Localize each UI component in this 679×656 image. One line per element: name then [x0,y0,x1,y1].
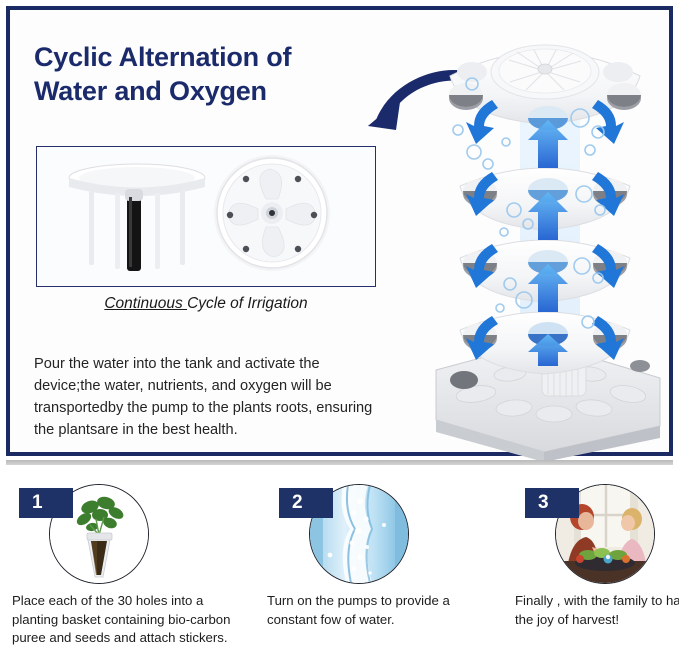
step-item-3: 3 [508,480,679,656]
step-number-badge-1: 1 [19,488,73,518]
photo-caption-underlined: Continuous [104,295,187,312]
step-item-1: 1 [4,480,244,656]
step-caption-2: Turn on the pumps to provide a constant … [267,592,495,629]
photo-caption: Continuous Cycle of Irrigation [36,295,376,313]
page-title-line-1: Cyclic Alternation of [34,42,291,72]
step-caption-3: Finally , with the family to harvest the… [515,592,679,629]
photo-caption-rest: Cycle of Irrigation [187,295,308,312]
page-title-line-2: Water and Oxygen [34,74,379,108]
main-panel: Cyclic Alternation of Water and Oxygen [6,6,673,456]
step-item-2: 2 [258,480,498,656]
page-title: Cyclic Alternation of Water and Oxygen [34,40,379,108]
irrigation-photo-box [36,146,376,287]
tower-illustration [414,22,676,462]
infographic-page: Cyclic Alternation of Water and Oxygen [0,0,679,656]
panel-shadow-divider [6,460,673,465]
body-paragraph: Pour the water into the tank and activat… [34,353,386,442]
step-number-badge-2: 2 [279,488,333,518]
step-number-badge-3: 3 [525,488,579,518]
steps-section: 1 [0,480,679,656]
step-caption-1: Place each of the 30 holes into a planti… [12,592,242,648]
